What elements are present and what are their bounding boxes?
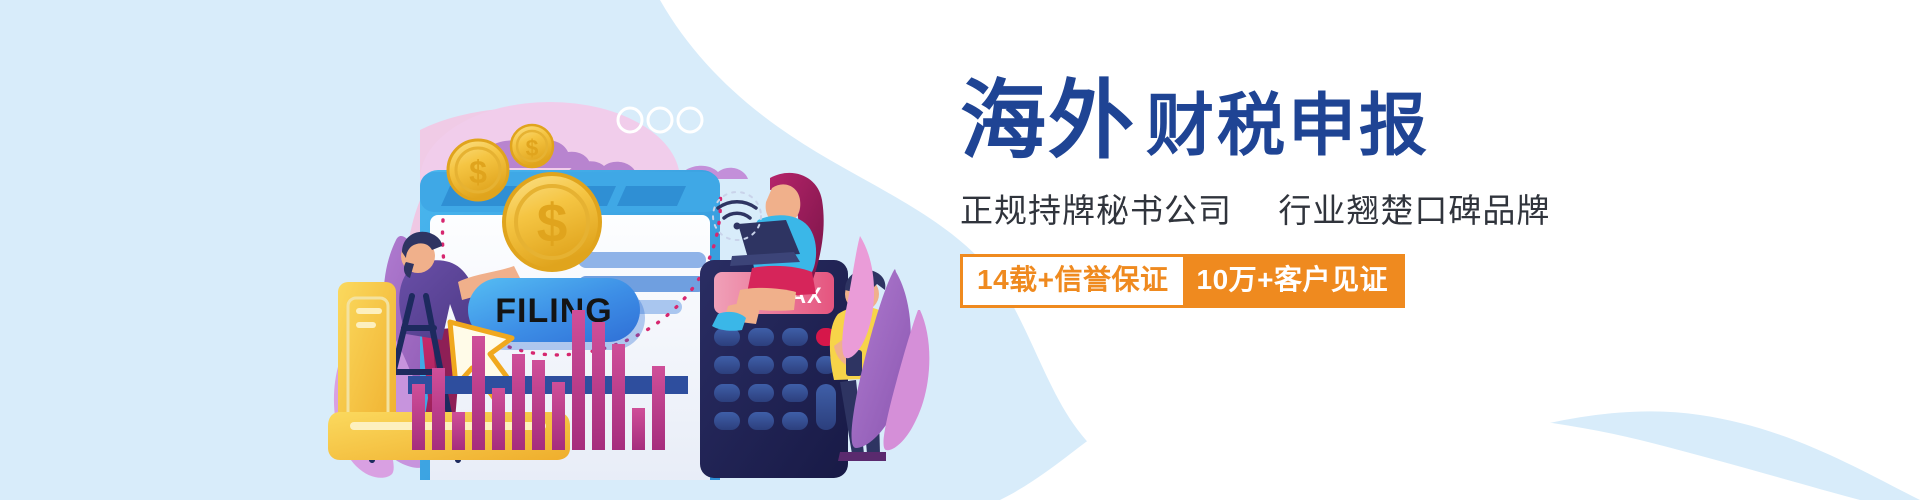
svg-text:$: $	[526, 135, 539, 161]
headline-primary: 海外	[960, 78, 1136, 164]
badge-customers: 10万+客户见证	[1183, 254, 1406, 308]
hero-illustration: $ $ $	[300, 60, 960, 480]
subheadline-part-1: 正规持牌秘书公司	[960, 192, 1232, 229]
decorative-leaves-front	[842, 236, 929, 450]
subheadline-part-2: 行业翘楚口碑品牌	[1278, 192, 1550, 229]
badge-group: 14载+信誉保证 10万+客户见证	[960, 254, 1405, 308]
copy-block: 海外 财税申报 正规持牌秘书公司 行业翘楚口碑品牌 14载+信誉保证 10万+客…	[960, 78, 1680, 308]
dollar-coin-icon: $	[448, 140, 508, 200]
headline-secondary: 财税申报	[1146, 92, 1430, 160]
dollar-coin-icon: $	[511, 125, 553, 167]
subheadline: 正规持牌秘书公司 行业翘楚口碑品牌	[960, 184, 1680, 232]
svg-text:$: $	[537, 192, 568, 254]
badge-credibility: 14载+信誉保证	[960, 254, 1183, 308]
headline: 海外 财税申报	[960, 78, 1680, 164]
dollar-coin-icon: $	[504, 174, 600, 270]
wifi-icon	[713, 192, 761, 240]
promo-banner: $ $ $	[0, 0, 1920, 500]
svg-text:$: $	[469, 154, 487, 190]
